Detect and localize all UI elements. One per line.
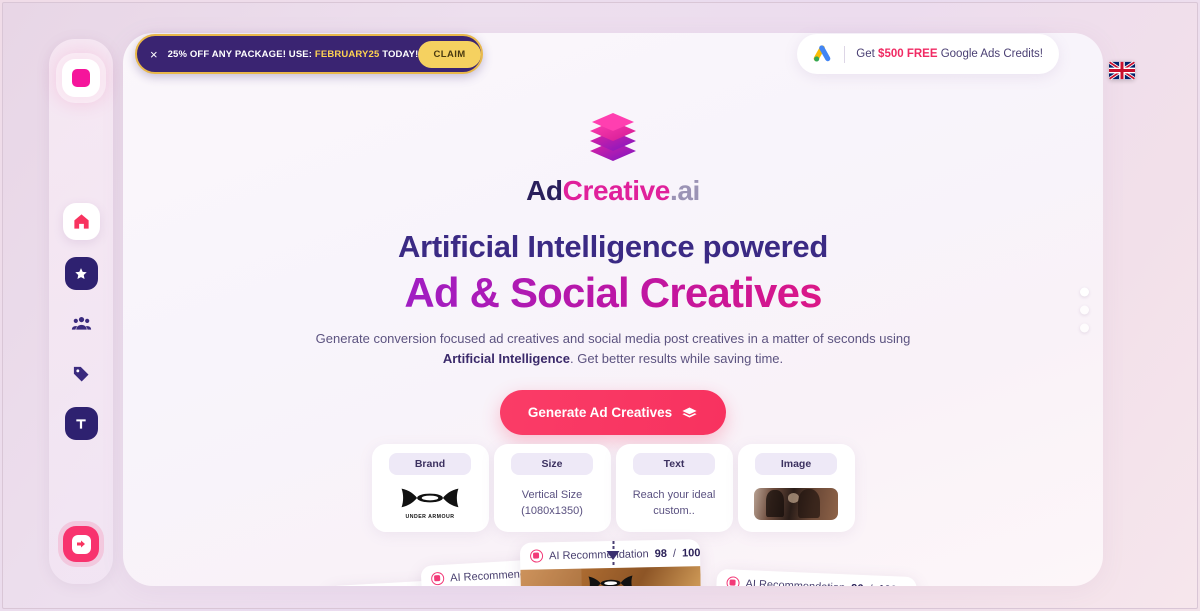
promo-code: FEBRUARY25 bbox=[315, 49, 380, 60]
sidebar bbox=[49, 39, 113, 584]
ai-recommendation-label: AI Recommendation bbox=[745, 578, 845, 586]
main-content-panel: AdCreative.ai Artificial Intelligence po… bbox=[123, 33, 1103, 586]
logo-square bbox=[72, 69, 90, 87]
down-arrow-dotted-icon bbox=[607, 541, 620, 567]
ai-recommendation-icon bbox=[431, 572, 445, 586]
star-icon bbox=[74, 267, 88, 281]
gads-text-after: Google Ads Credits! bbox=[941, 48, 1043, 60]
language-selector[interactable] bbox=[1109, 61, 1135, 80]
logout-chip bbox=[72, 535, 91, 554]
gads-amount: $500 bbox=[878, 48, 904, 60]
ai-recommendation-icon bbox=[726, 576, 740, 586]
divider bbox=[844, 46, 845, 63]
sidebar-item-tag[interactable] bbox=[65, 357, 98, 390]
sidebar-item-home[interactable] bbox=[63, 203, 100, 240]
uk-flag-icon bbox=[1109, 61, 1135, 80]
result-card-header: AI Recommendation 96/100 bbox=[716, 569, 917, 586]
arrow-dot bbox=[612, 541, 614, 544]
promo-banner-text: 25% OFF ANY PACKAGE! USE: FEBRUARY25 TOD… bbox=[168, 49, 419, 60]
result-score: 96 bbox=[851, 582, 864, 586]
users-icon bbox=[71, 313, 92, 334]
result-total: 100 bbox=[878, 583, 897, 586]
promo-text-before: 25% OFF ANY PACKAGE! USE: bbox=[168, 49, 313, 60]
google-ads-credit-badge[interactable]: Get $500 FREE Google Ads Credits! bbox=[797, 34, 1059, 74]
logout-arrow-icon bbox=[75, 538, 87, 550]
sidebar-item-logout[interactable] bbox=[63, 526, 99, 562]
tag-icon bbox=[71, 364, 91, 384]
score-separator: / bbox=[673, 547, 676, 559]
pagination-dot-3[interactable] bbox=[1080, 323, 1089, 332]
pagination-dots[interactable] bbox=[1080, 287, 1089, 332]
app-window: AdCreative.ai Artificial Intelligence po… bbox=[2, 2, 1198, 609]
arrow-dot bbox=[612, 562, 614, 565]
image-panel bbox=[520, 569, 583, 586]
claim-button[interactable]: CLAIM bbox=[418, 41, 480, 68]
promo-text-after: TODAY! bbox=[382, 49, 418, 60]
score-separator: / bbox=[869, 583, 873, 586]
adcreative-logo-icon[interactable] bbox=[62, 59, 100, 97]
arrow-head-icon bbox=[607, 551, 620, 560]
pagination-dot-2[interactable] bbox=[1080, 305, 1089, 314]
google-ads-text: Get $500 FREE Google Ads Credits! bbox=[856, 48, 1043, 60]
result-card[interactable]: AI Recommendation 96/100 bbox=[713, 569, 917, 586]
sidebar-item-text[interactable] bbox=[65, 407, 98, 440]
result-total: 100 bbox=[682, 547, 701, 559]
promo-banner: × 25% OFF ANY PACKAGE! USE: FEBRUARY25 T… bbox=[135, 34, 483, 74]
ai-recommendation-label: AI Recommendation bbox=[549, 548, 649, 562]
sidebar-item-star[interactable] bbox=[65, 257, 98, 290]
gads-free: FREE bbox=[907, 48, 938, 60]
result-card-image bbox=[520, 566, 702, 586]
text-t-icon bbox=[74, 417, 88, 431]
under-armour-logo-icon bbox=[586, 574, 634, 586]
pagination-dot-1[interactable] bbox=[1080, 287, 1089, 296]
arrow-dot bbox=[612, 546, 614, 549]
google-ads-icon bbox=[811, 44, 833, 64]
results-stack: AI Recommendation 94/100 AI Recom bbox=[123, 33, 1103, 586]
ai-recommendation-icon bbox=[530, 549, 543, 562]
gads-text-before: Get bbox=[856, 48, 875, 60]
sidebar-nav bbox=[63, 203, 100, 440]
close-icon[interactable]: × bbox=[150, 48, 158, 61]
result-score: 98 bbox=[655, 547, 667, 559]
home-icon bbox=[72, 212, 91, 231]
sidebar-item-audience[interactable] bbox=[65, 307, 98, 340]
